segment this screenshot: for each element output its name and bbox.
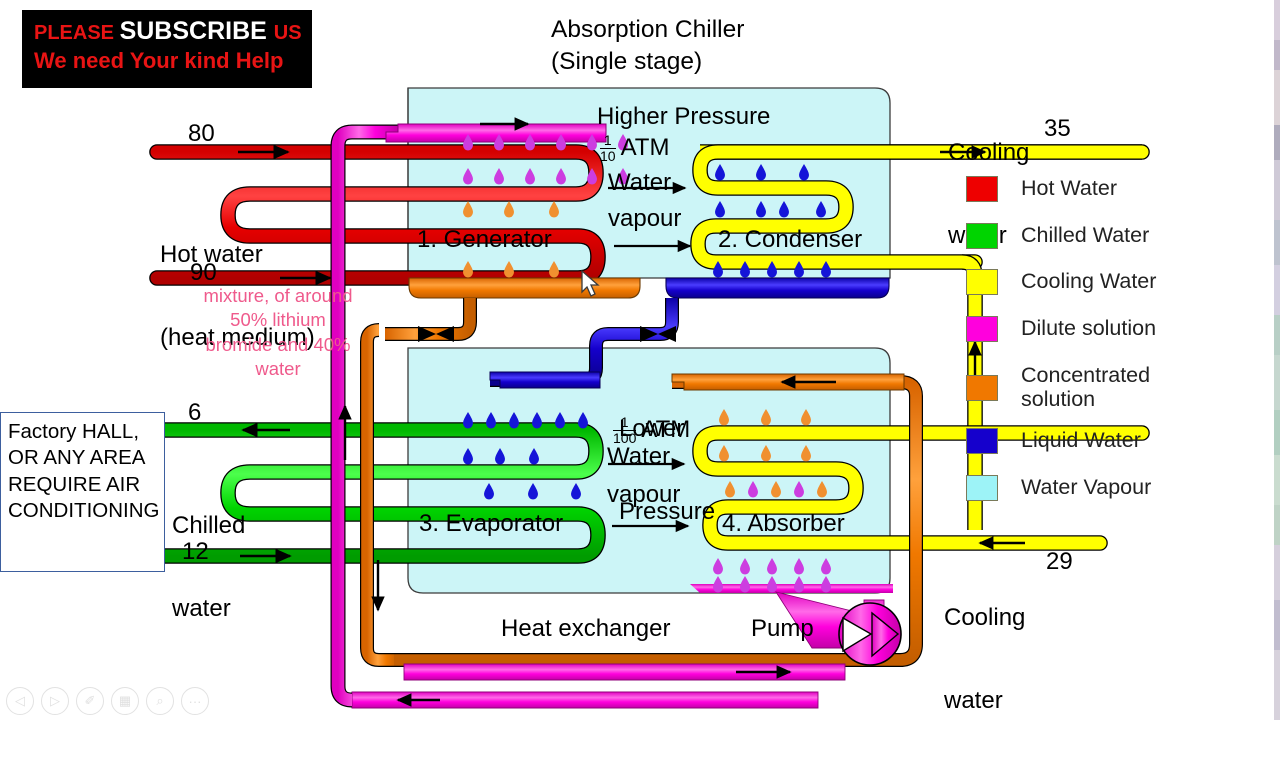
upper-vapour-flow-label-2: vapour [608, 205, 681, 233]
higher-pressure-atm-unit: ATM [621, 134, 670, 162]
legend-swatch-chilled-water [966, 223, 998, 249]
solution-composition-note: mixture, of around 50% lithium bromide a… [203, 284, 353, 382]
subscribe-banner-line1: PLEASE SUBSCRIBE US [34, 17, 302, 46]
hot-water-inlet-temp: 80 [188, 120, 215, 148]
legend-swatch-liquid-water [966, 428, 998, 454]
higher-pressure-label: Higher Pressure [597, 103, 770, 131]
higher-pressure-fraction: 1 10 [600, 133, 616, 163]
generator-label: 1. Generator [417, 226, 552, 254]
lower-pressure-atm-unit: ATM [641, 416, 690, 444]
condenser-label: 2. Condenser [718, 226, 862, 254]
banner-us: US [274, 22, 302, 44]
chilled-water-inlet-temp: 6 [188, 399, 201, 427]
more-options-icon[interactable]: ··· [181, 687, 209, 715]
legend-item: Liquid Water [966, 425, 1266, 457]
legend-item: Dilute solution [966, 313, 1266, 345]
chilled-water-label: Chilled water [172, 456, 245, 679]
legend-swatch-dilute-solution [966, 316, 998, 342]
edge-artifact-strip [1274, 0, 1280, 720]
legend-label-hot-water: Hot Water [1021, 177, 1117, 201]
banner-subscribe: SUBSCRIBE [120, 17, 274, 45]
lower-vapour-flow-label-2: vapour [607, 481, 680, 509]
legend: Hot Water Chilled Water Cooling Water Di… [966, 173, 1266, 518]
higher-pressure-atm: 1 10 ATM [600, 133, 669, 163]
legend-item: Hot Water [966, 173, 1266, 205]
evaporator-label: 3. Evaporator [419, 510, 563, 538]
pen-icon[interactable]: ✐ [76, 687, 104, 715]
cooling-water-outlet-line2: water [944, 687, 1025, 715]
page-title-line1: Absorption Chiller [551, 14, 744, 46]
heat-exchanger-label: Heat exchanger [501, 615, 670, 643]
legend-swatch-hot-water [966, 176, 998, 202]
hot-water-label-line1: Hot water [160, 241, 315, 269]
legend-swatch-cooling-water [966, 269, 998, 295]
subscribe-banner-line2: We need Your kind Help [34, 48, 283, 74]
lower-pressure-fraction: 1 100 [613, 415, 636, 445]
factory-hall-callout: Factory HALL, OR ANY AREA REQUIRE AIR CO… [0, 412, 165, 572]
legend-swatch-concentrated-solution [966, 375, 998, 401]
legend-label-concentrated-solution: Concentrated solution [1021, 364, 1171, 411]
previous-slide-icon[interactable]: ◁ [6, 687, 34, 715]
subscribe-banner: PLEASE SUBSCRIBE US We need Your kind He… [22, 10, 312, 88]
legend-label-water-vapour: Water Vapour [1021, 476, 1151, 500]
legend-item: Water Vapour [966, 472, 1266, 504]
cooling-water-inlet-line1: Cooling [948, 139, 1029, 167]
page-title: Absorption Chiller (Single stage) [551, 14, 744, 78]
slides-grid-icon[interactable]: ▦ [111, 687, 139, 715]
chilled-water-label-line2: water [172, 595, 245, 623]
legend-swatch-water-vapour [966, 475, 998, 501]
hot-water-outlet-temp: 90 [190, 259, 217, 287]
legend-item: Cooling Water [966, 266, 1266, 298]
banner-please: PLEASE [34, 22, 120, 44]
condenser-liquid-pool [666, 278, 889, 298]
next-slide-icon[interactable]: ▷ [41, 687, 69, 715]
legend-label-cooling-water: Cooling Water [1021, 270, 1156, 294]
presentation-controls[interactable]: ◁ ▷ ✐ ▦ ⌕ ··· [6, 686, 226, 716]
cooling-water-outlet-label: Cooling water [944, 548, 1025, 771]
cooling-water-outlet-temp: 29 [1046, 548, 1073, 576]
generator-solution-pool [409, 278, 640, 298]
cooling-water-inlet-temp: 35 [1044, 115, 1071, 143]
lower-pressure-numerator: 1 [613, 415, 636, 430]
higher-pressure-denominator: 10 [600, 148, 616, 164]
lower-vapour-flow-label-1: Water [607, 443, 670, 471]
upper-vapour-flow-label-1: Water [608, 169, 671, 197]
legend-label-chilled-water: Chilled Water [1021, 224, 1149, 248]
chilled-water-label-line1: Chilled [172, 512, 245, 540]
legend-label-liquid-water: Liquid Water [1021, 429, 1141, 453]
legend-item: Concentrated solution [966, 359, 1266, 417]
page-title-line2: (Single stage) [551, 46, 744, 78]
lower-pressure-atm: 1 100 ATM [613, 415, 690, 445]
cooling-water-outlet-line1: Cooling [944, 604, 1025, 632]
pump-label: Pump [751, 615, 814, 643]
absorber-label: 4. Absorber [722, 510, 845, 538]
legend-label-dilute-solution: Dilute solution [1021, 317, 1156, 341]
higher-pressure-numerator: 1 [600, 133, 616, 148]
legend-item: Chilled Water [966, 220, 1266, 252]
slide-canvas: PLEASE SUBSCRIBE US We need Your kind He… [0, 0, 1280, 720]
zoom-icon[interactable]: ⌕ [146, 687, 174, 715]
chilled-water-outlet-temp: 12 [182, 538, 209, 566]
